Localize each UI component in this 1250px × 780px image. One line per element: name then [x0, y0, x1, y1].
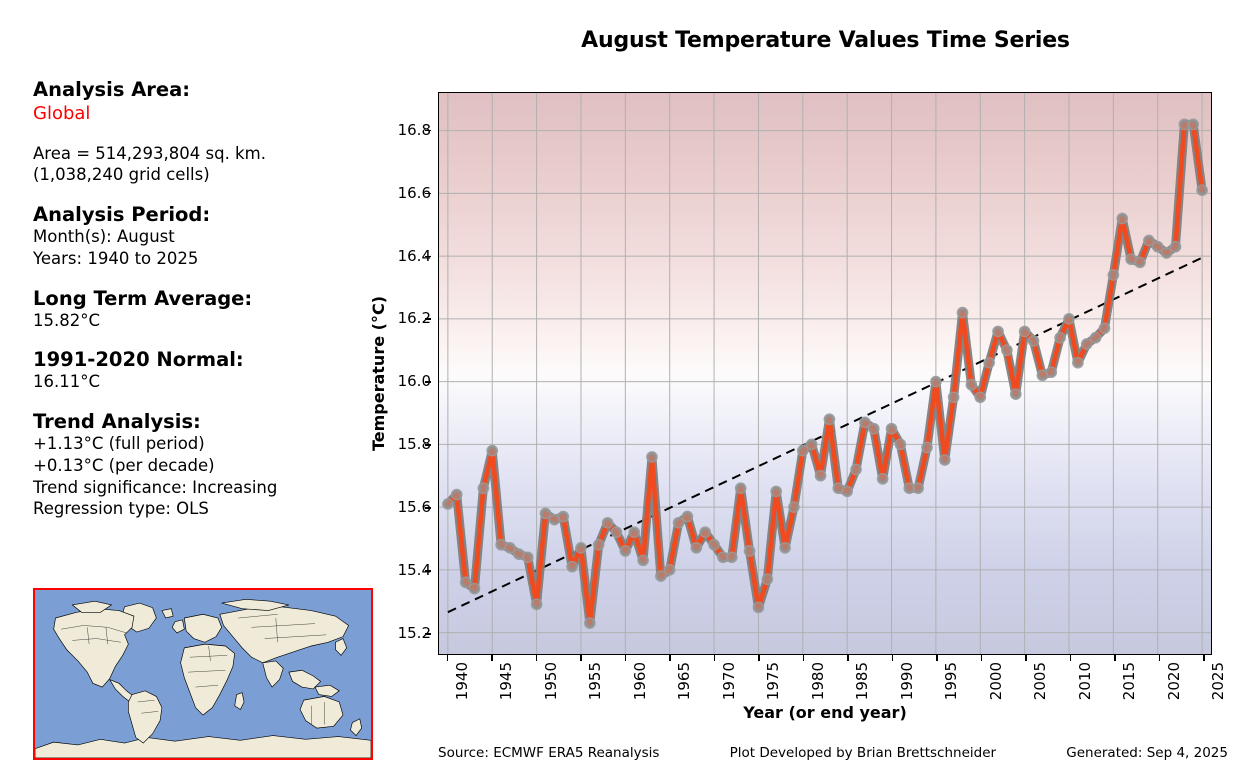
x-tick-mark — [491, 655, 493, 661]
long-term-average-heading: Long Term Average: — [33, 287, 383, 310]
x-tick-label: 1965 — [675, 662, 693, 700]
x-tick-label: 2010 — [1076, 662, 1094, 700]
y-tick-mark — [425, 256, 431, 258]
x-tick-label: 1940 — [453, 662, 471, 700]
area-size-line: Area = 514,293,804 sq. km. — [33, 143, 383, 165]
x-tick-label: 1955 — [586, 662, 604, 700]
long-term-average-value: 15.82°C — [33, 310, 383, 332]
x-tick-mark — [847, 655, 849, 661]
x-tick-mark — [892, 655, 894, 661]
grid-lines — [439, 93, 1211, 655]
x-tick-label: 1970 — [720, 662, 738, 700]
x-tick-mark — [1203, 655, 1205, 661]
x-tick-label: 2025 — [1209, 662, 1227, 700]
y-tick-label: 16.0 — [375, 372, 431, 390]
x-tick-label: 1960 — [631, 662, 649, 700]
x-tick-mark — [536, 655, 538, 661]
world-map-svg — [35, 590, 371, 758]
footer-developer: Plot Developed by Brian Brettschneider — [730, 745, 996, 761]
x-tick-label: 2015 — [1120, 662, 1138, 700]
x-tick-mark — [447, 655, 449, 661]
x-tick-mark — [758, 655, 760, 661]
series-markers — [443, 119, 1208, 628]
footer-generated: Generated: Sep 4, 2025 — [1066, 745, 1228, 761]
y-tick-label: 16.2 — [375, 309, 431, 327]
x-tick-mark — [580, 655, 582, 661]
x-tick-label: 2000 — [987, 662, 1005, 700]
trend-analysis-heading: Trend Analysis: — [33, 410, 383, 433]
y-tick-label: 15.6 — [375, 498, 431, 516]
x-tick-mark — [1159, 655, 1161, 661]
regression-type: Regression type: OLS — [33, 498, 383, 520]
x-tick-label: 1945 — [497, 662, 515, 700]
x-tick-mark — [714, 655, 716, 661]
x-tick-mark — [803, 655, 805, 661]
x-tick-label: 2020 — [1165, 662, 1183, 700]
y-tick-mark — [425, 633, 431, 635]
y-tick-mark — [425, 570, 431, 572]
y-axis-ticks: 15.215.415.615.816.016.216.416.616.8 — [371, 92, 431, 655]
x-axis-label: Year (or end year) — [438, 703, 1212, 722]
x-tick-label: 1950 — [542, 662, 560, 700]
y-tick-mark — [425, 193, 431, 195]
y-tick-label: 15.8 — [375, 435, 431, 453]
y-tick-mark — [425, 130, 431, 132]
trend-full-period: +1.13°C (full period) — [33, 433, 383, 455]
temperature-series — [448, 124, 1202, 623]
footer: Source: ECMWF ERA5 Reanalysis Plot Devel… — [438, 745, 1228, 761]
x-axis-ticks: 1940194519501955196019651970197519801985… — [438, 655, 1212, 705]
y-tick-label: 16.4 — [375, 247, 431, 265]
grid-cells-line: (1,038,240 grid cells) — [33, 164, 383, 186]
y-tick-mark — [425, 318, 431, 320]
x-tick-mark — [1114, 655, 1116, 661]
x-tick-label: 2005 — [1031, 662, 1049, 700]
x-tick-label: 1980 — [809, 662, 827, 700]
footer-source: Source: ECMWF ERA5 Reanalysis — [438, 745, 659, 761]
y-tick-label: 15.4 — [375, 561, 431, 579]
trend-per-decade: +0.13°C (per decade) — [33, 455, 383, 477]
x-tick-mark — [625, 655, 627, 661]
years-line: Years: 1940 to 2025 — [33, 248, 383, 270]
normal-value: 16.11°C — [33, 371, 383, 393]
x-tick-mark — [669, 655, 671, 661]
trend-significance: Trend significance: Increasing — [33, 477, 383, 499]
normal-heading: 1991-2020 Normal: — [33, 348, 383, 371]
y-tick-mark — [425, 444, 431, 446]
x-tick-mark — [1025, 655, 1027, 661]
analysis-area-heading: Analysis Area: — [33, 78, 383, 101]
x-tick-label: 1975 — [764, 662, 782, 700]
world-map-inset — [33, 588, 373, 760]
analysis-sidebar: Analysis Area: Global Area = 514,293,804… — [33, 78, 383, 520]
y-tick-label: 16.8 — [375, 121, 431, 139]
x-tick-label: 1995 — [942, 662, 960, 700]
x-tick-mark — [936, 655, 938, 661]
plot-area — [438, 92, 1212, 655]
y-tick-label: 16.6 — [375, 184, 431, 202]
x-tick-label: 1985 — [853, 662, 871, 700]
y-tick-label: 15.2 — [375, 624, 431, 642]
page-title: August Temperature Values Time Series — [438, 28, 1213, 53]
analysis-area-value: Global — [33, 103, 383, 126]
x-tick-mark — [1070, 655, 1072, 661]
x-tick-label: 1990 — [898, 662, 916, 700]
analysis-period-heading: Analysis Period: — [33, 203, 383, 226]
plot-svg — [439, 93, 1211, 655]
y-tick-mark — [425, 381, 431, 383]
y-tick-mark — [425, 507, 431, 509]
months-line: Month(s): August — [33, 226, 383, 248]
x-tick-mark — [981, 655, 983, 661]
